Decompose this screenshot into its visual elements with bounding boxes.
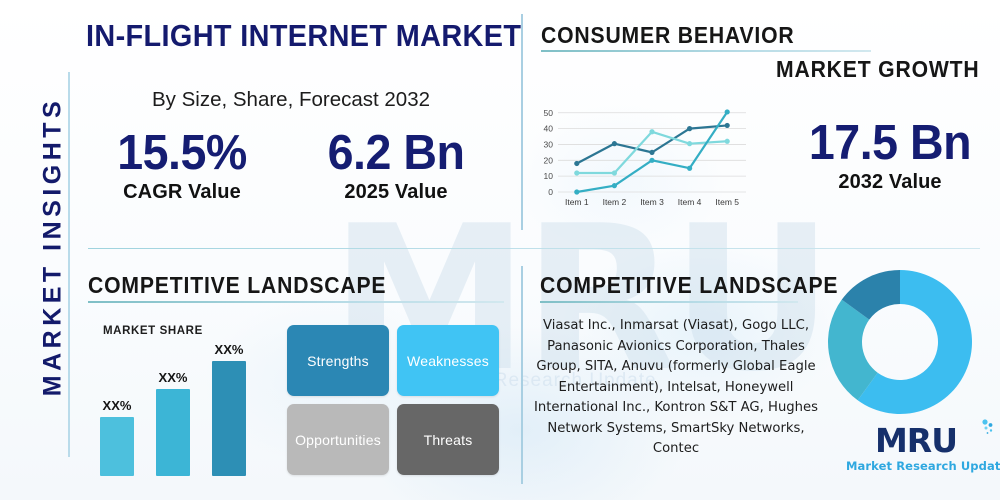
section-heading-competitive-landscape-left: COMPETITIVE LANDSCAPE [88,272,386,299]
section-rule-consumer-behavior [541,50,871,52]
swot-cell-strengths[interactable]: Strengths [287,325,389,396]
page-title: IN-FLIGHT INTERNET MARKET [86,18,521,54]
section-rule-competitive-landscape-right [540,301,798,303]
stat-cagr-label: CAGR Value [92,180,272,204]
logo-subtitle: Market Research Update [846,459,986,473]
svg-text:Item 4: Item 4 [678,197,702,207]
market-share-bar: XX% [100,417,134,476]
stat-2032-value: 17.5 Bn 2032 Value [790,116,990,194]
swot-cell-weaknesses[interactable]: Weaknesses [397,325,499,396]
svg-text:30: 30 [544,139,554,149]
side-label-market-insights: MARKET INSIGHTS [39,82,68,412]
svg-text:Item 2: Item 2 [603,197,627,207]
market-share-bar-label: XX% [94,398,140,413]
logo-mark-text: MRU [875,424,957,458]
consumer-behavior-line-chart: 01020304050Item 1Item 2Item 3Item 4Item … [532,100,750,218]
section-heading-market-growth: MARKET GROWTH [776,56,980,83]
stat-2025-value-number: 6.2 Bn [311,126,482,180]
horizontal-divider [88,248,980,249]
market-share-bar: XX% [212,361,246,476]
market-share-bar: XX% [156,389,190,476]
svg-text:50: 50 [544,108,554,118]
page-subtitle: By Size, Share, Forecast 2032 [88,88,494,112]
swot-cell-opportunities[interactable]: Opportunities [287,404,389,475]
company-list: Viasat Inc., Inmarsat (Viasat), Gogo LLC… [528,316,824,460]
stat-2025-value-label: 2025 Value [306,180,486,204]
svg-text:20: 20 [544,155,554,165]
swot-cell-threats[interactable]: Threats [397,404,499,475]
stat-cagr: 15.5% CAGR Value [92,126,272,204]
brand-logo: MRU Market Research Update [846,424,986,473]
market-share-bar-rect [156,389,190,476]
market-share-bar-rect [100,417,134,476]
stat-2025-value: 6.2 Bn 2025 Value [306,126,486,204]
market-share-bar-label: XX% [150,370,196,385]
section-heading-competitive-landscape-right: COMPETITIVE LANDSCAPE [540,272,838,299]
svg-text:10: 10 [544,171,554,181]
svg-text:0: 0 [548,187,553,197]
section-rule-competitive-landscape-left [88,301,504,303]
logo-bubbles-icon [979,419,995,437]
section-heading-consumer-behavior: CONSUMER BEHAVIOR [541,22,795,49]
svg-text:40: 40 [544,124,554,134]
donut-chart-svg [826,268,974,416]
svg-text:Item 5: Item 5 [715,197,739,207]
infographic-root: MRU Market Research Update MARKET INSIGH… [0,0,1000,500]
line-chart-svg: 01020304050Item 1Item 2Item 3Item 4Item … [532,100,750,218]
stat-cagr-value: 15.5% [97,126,268,180]
stat-2032-value-label: 2032 Value [790,170,990,194]
swot-grid: StrengthsWeaknessesOpportunitiesThreats [287,325,499,475]
center-vertical-rule-bottom [521,266,523,484]
svg-text:Item 1: Item 1 [565,197,589,207]
market-share-bar-chart: XX%XX%XX% [100,336,272,476]
market-share-donut-chart [826,268,974,416]
svg-text:Item 3: Item 3 [640,197,664,207]
market-share-bar-rect [212,361,246,476]
market-share-bar-label: XX% [206,342,252,357]
left-vertical-rule [68,72,70,457]
stat-2032-value-number: 17.5 Bn [795,116,985,170]
